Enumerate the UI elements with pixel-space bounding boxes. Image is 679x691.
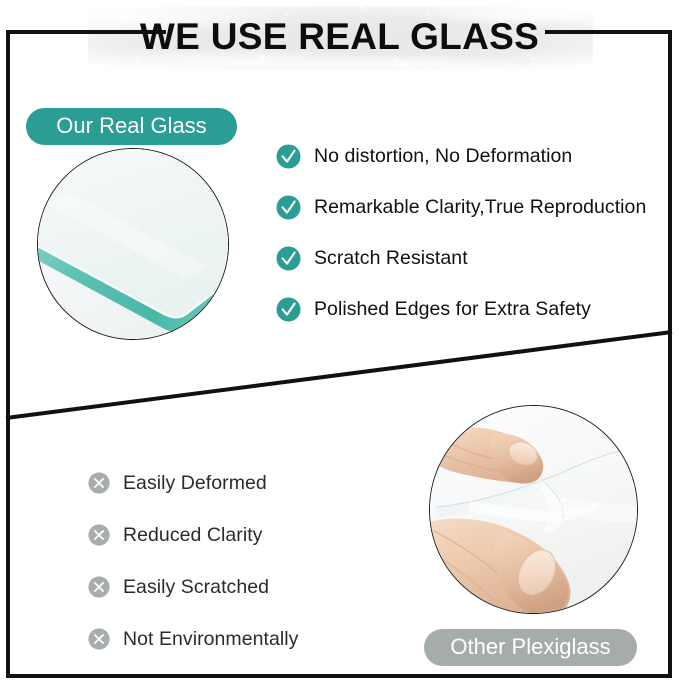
frame-border-bottom — [6, 674, 672, 678]
drawback-list: Easily Deformed Reduced Clarity Easily S… — [88, 457, 388, 665]
list-item: Remarkable Clarity,True Reproduction — [276, 182, 674, 233]
hand-bending-plexiglass-illustration — [430, 406, 637, 613]
real-glass-photo — [37, 148, 229, 340]
feature-label: Remarkable Clarity,True Reproduction — [314, 196, 646, 219]
list-item: Easily Scratched — [88, 561, 388, 613]
label-other-plexiglass: Other Plexiglass — [424, 629, 637, 666]
list-item: Not Environmentally — [88, 613, 388, 665]
list-item: Easily Deformed — [88, 457, 388, 509]
check-circle-icon — [276, 195, 301, 220]
list-item: Polished Edges for Extra Safety — [276, 284, 674, 335]
x-circle-icon — [88, 472, 110, 494]
check-circle-icon — [276, 144, 301, 169]
feature-label: Scratch Resistant — [314, 247, 468, 270]
real-glass-panel-illustration — [38, 149, 228, 339]
drawback-label: Reduced Clarity — [123, 524, 262, 547]
drawback-label: Easily Scratched — [123, 576, 269, 599]
frame-border-left-upper — [6, 30, 10, 420]
page-title: WE USE REAL GLASS — [0, 15, 679, 59]
frame-border-left-lower — [6, 416, 10, 678]
check-circle-icon — [276, 297, 301, 322]
feature-label: No distortion, No Deformation — [314, 145, 572, 168]
label-our-real-glass: Our Real Glass — [26, 108, 237, 145]
x-circle-icon — [88, 628, 110, 650]
frame-border-right-lower — [668, 331, 672, 678]
x-circle-icon — [88, 576, 110, 598]
product-comparison-infographic: WE USE REAL GLASS Our Real Glass — [0, 0, 679, 691]
list-item: Scratch Resistant — [276, 233, 674, 284]
feature-label: Polished Edges for Extra Safety — [314, 298, 591, 321]
x-circle-icon — [88, 524, 110, 546]
list-item: No distortion, No Deformation — [276, 131, 674, 182]
drawback-label: Easily Deformed — [123, 472, 267, 495]
check-circle-icon — [276, 246, 301, 271]
feature-list: No distortion, No Deformation Remarkable… — [276, 131, 674, 335]
drawback-label: Not Environmentally — [123, 628, 298, 651]
other-plexiglass-photo — [429, 405, 638, 614]
list-item: Reduced Clarity — [88, 509, 388, 561]
